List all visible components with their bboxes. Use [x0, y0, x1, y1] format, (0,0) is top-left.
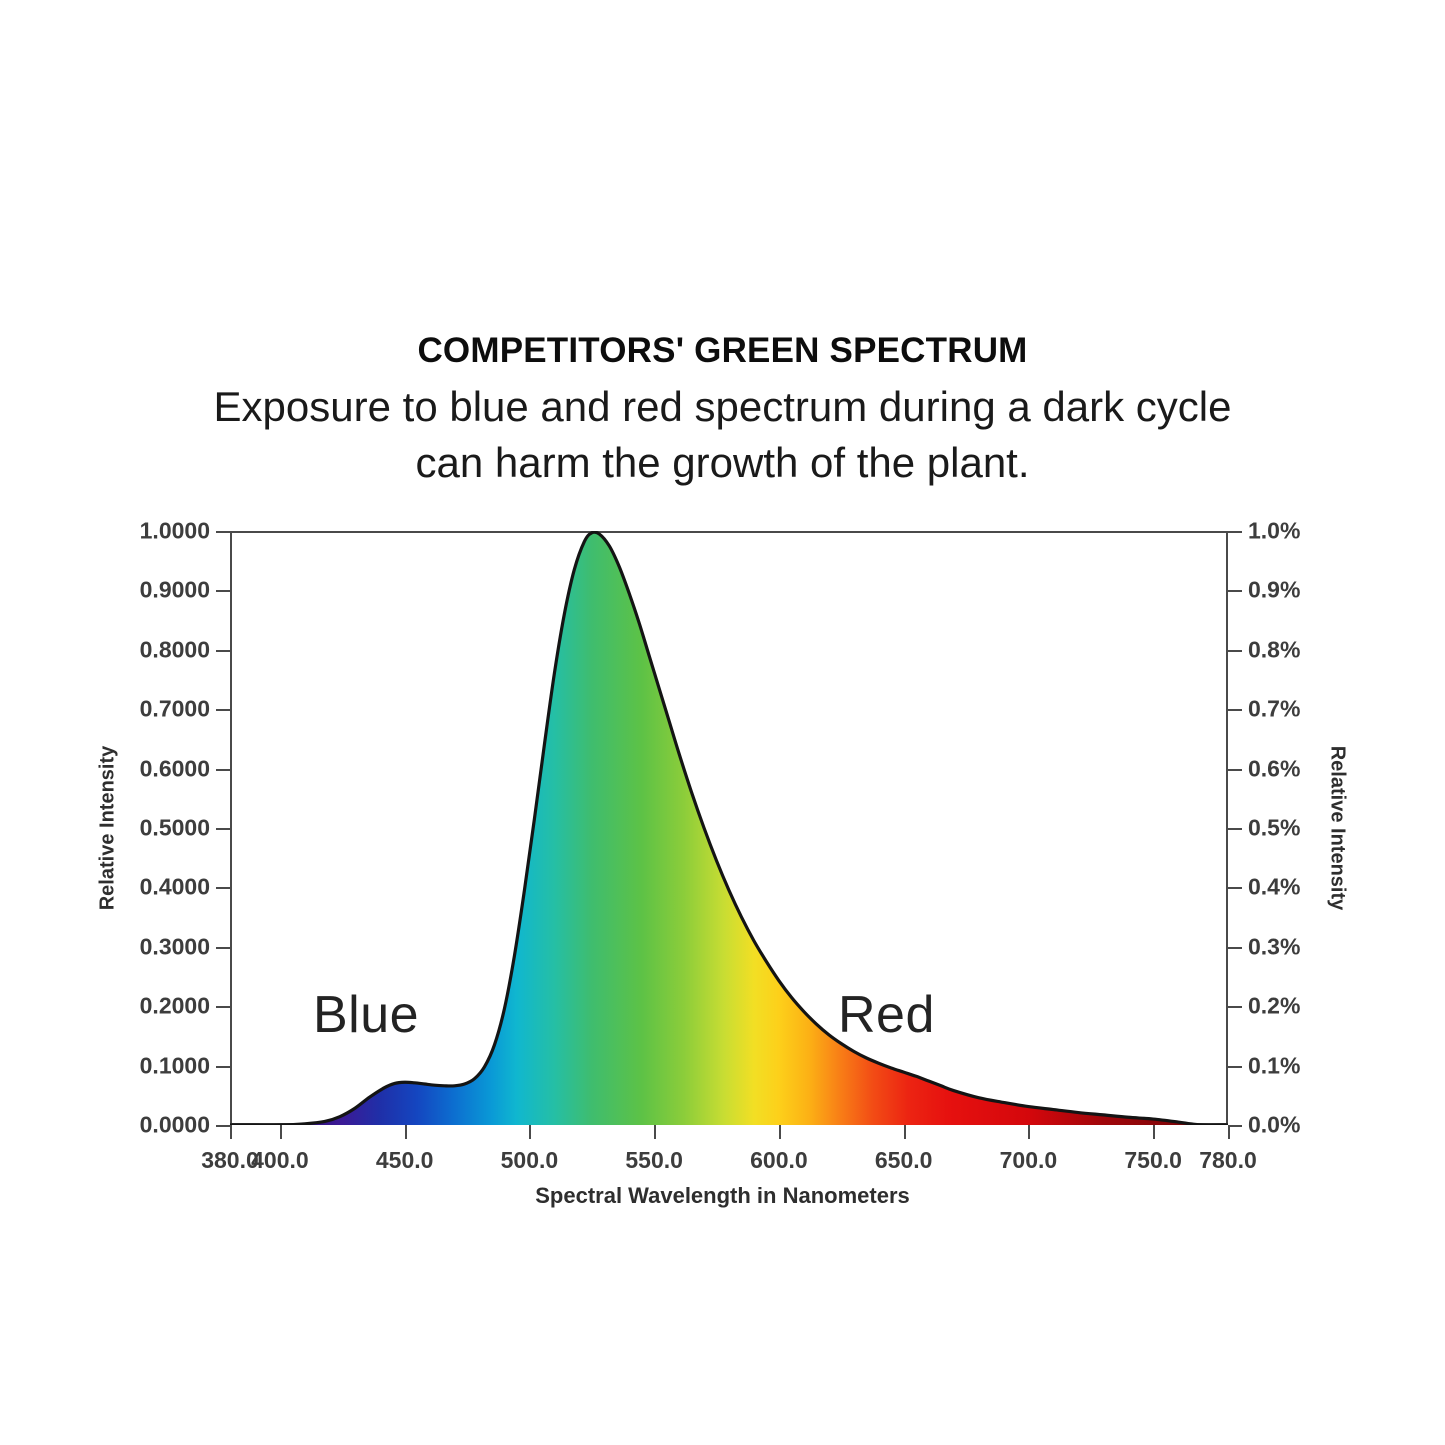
x-tick	[779, 1125, 781, 1139]
y-tick-label-right: 0.1%	[1248, 1052, 1300, 1079]
y-tick-label-left: 0.7000	[140, 696, 210, 723]
y-tick-label-right: 0.0%	[1248, 1112, 1300, 1139]
y-tick-left	[216, 650, 230, 652]
x-tick-label: 650.0	[875, 1147, 933, 1174]
y-tick-left	[216, 531, 230, 533]
y-tick-right	[1228, 709, 1242, 711]
y-tick-left	[216, 769, 230, 771]
y-tick-label-left: 0.1000	[140, 1052, 210, 1079]
x-tick-label: 700.0	[1000, 1147, 1058, 1174]
y-tick-left	[216, 947, 230, 949]
y-tick-right	[1228, 590, 1242, 592]
y-tick-label-right: 0.5%	[1248, 815, 1300, 842]
x-tick	[529, 1125, 531, 1139]
x-tick	[904, 1125, 906, 1139]
y-tick-right	[1228, 650, 1242, 652]
y-tick-right	[1228, 769, 1242, 771]
x-tick	[405, 1125, 407, 1139]
chart-title: COMPETITORS' GREEN SPECTRUM	[0, 330, 1445, 371]
y-tick-label-left: 0.0000	[140, 1112, 210, 1139]
y-tick-label-left: 0.6000	[140, 755, 210, 782]
x-tick	[280, 1125, 282, 1139]
y-tick-right	[1228, 887, 1242, 889]
y-tick-left	[216, 887, 230, 889]
x-tick	[654, 1125, 656, 1139]
chart-page: COMPETITORS' GREEN SPECTRUM Exposure to …	[0, 0, 1445, 1445]
y-tick-label-right: 0.6%	[1248, 755, 1300, 782]
x-tick	[230, 1125, 232, 1139]
x-tick-label: 400.0	[251, 1147, 309, 1174]
y-tick-label-right: 0.9%	[1248, 577, 1300, 604]
y-tick-label-right: 0.3%	[1248, 933, 1300, 960]
x-tick-label: 750.0	[1124, 1147, 1182, 1174]
y-tick-label-left: 0.5000	[140, 815, 210, 842]
y-tick-label-left: 0.9000	[140, 577, 210, 604]
chart-subtitle: Exposure to blue and red spectrum during…	[183, 379, 1263, 490]
x-tick-label: 500.0	[501, 1147, 559, 1174]
x-tick-label: 550.0	[625, 1147, 683, 1174]
y-tick-label-right: 0.8%	[1248, 636, 1300, 663]
y-tick-right	[1228, 531, 1242, 533]
y-tick-label-right: 0.2%	[1248, 993, 1300, 1020]
x-tick-label: 600.0	[750, 1147, 808, 1174]
y-tick-right	[1228, 828, 1242, 830]
annotation-blue: Blue	[313, 985, 419, 1045]
annotation-red: Red	[838, 985, 935, 1045]
y-tick-label-right: 1.0%	[1248, 518, 1300, 545]
y-tick-left	[216, 709, 230, 711]
y-tick-label-left: 1.0000	[140, 518, 210, 545]
title-block: COMPETITORS' GREEN SPECTRUM Exposure to …	[0, 330, 1445, 490]
y-tick-left	[216, 1066, 230, 1068]
y-axis-right-title: Relative Intensity	[1326, 746, 1349, 911]
y-tick-label-left: 0.4000	[140, 874, 210, 901]
y-tick-left	[216, 828, 230, 830]
y-tick-right	[1228, 947, 1242, 949]
y-tick-left	[216, 1006, 230, 1008]
x-tick-label: 780.0	[1199, 1147, 1257, 1174]
y-tick-right	[1228, 1006, 1242, 1008]
y-tick-label-left: 0.2000	[140, 993, 210, 1020]
y-tick-label-right: 0.4%	[1248, 874, 1300, 901]
x-tick	[1028, 1125, 1030, 1139]
x-tick	[1153, 1125, 1155, 1139]
x-tick-label: 450.0	[376, 1147, 434, 1174]
y-tick-label-right: 0.7%	[1248, 696, 1300, 723]
y-tick-label-left: 0.3000	[140, 933, 210, 960]
y-tick-right	[1228, 1125, 1242, 1127]
x-tick	[1228, 1125, 1230, 1139]
y-tick-label-left: 0.8000	[140, 636, 210, 663]
y-tick-right	[1228, 1066, 1242, 1068]
x-axis-title: Spectral Wavelength in Nanometers	[0, 1183, 1445, 1209]
y-axis-left-title: Relative Intensity	[97, 746, 120, 911]
y-tick-left	[216, 1125, 230, 1127]
y-tick-left	[216, 590, 230, 592]
